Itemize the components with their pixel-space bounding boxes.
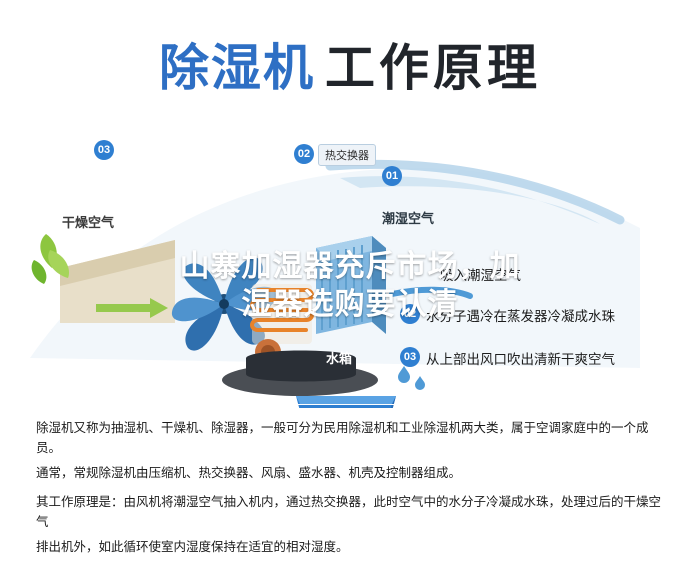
water-droplets — [398, 366, 425, 390]
article-text: 除湿机又称为抽湿机、干燥机、除湿器，一般可分为民用除湿机和工业除湿机两大类，属于… — [36, 418, 666, 562]
section-divider — [0, 404, 700, 405]
article-paragraph-3-body: 由风机将潮湿空气抽入机内，通过热交换器，此时空气中的水分子冷凝成水珠，处理过后的… — [36, 494, 661, 529]
article-paragraph-2: 通常，常规除湿机由压缩机、热交换器、风扇、盛水器、机壳及控制器组成。 — [36, 463, 666, 483]
poster-root: 除湿机工作原理 — [0, 0, 700, 566]
label-heat-exchanger: 热交换器 — [318, 144, 376, 166]
note-badge-02: 02 — [400, 304, 420, 324]
note-text-02: 水分子遇冷在蒸发器冷凝成水珠 — [426, 305, 615, 325]
step-badge-01: 01 — [382, 166, 402, 186]
note-text-03: 从上部出风口吹出清新干爽空气 — [426, 348, 615, 368]
label-dry-air: 干燥空气 — [62, 212, 114, 231]
label-moist-air: 潮湿空气 — [382, 208, 434, 227]
dehumidifier-diagram: 03 干燥空气 02 热交换器 01 潮湿空气 水箱 吸入潮湿空气 02 水分子… — [0, 108, 700, 408]
note-badge-03: 03 — [400, 347, 420, 367]
page-title-rest: 工作原理 — [325, 39, 541, 97]
label-water-tank: 水箱 — [326, 348, 352, 367]
step-badge-03: 03 — [94, 140, 114, 160]
note-inlet: 吸入潮湿空气 — [440, 264, 521, 284]
water-tank — [296, 396, 396, 408]
heat-exchanger — [316, 236, 386, 334]
page-title-highlight: 除湿机 — [159, 39, 315, 97]
article-paragraph-3: 其工作原理是：由风机将潮湿空气抽入机内，通过热交换器，此时空气中的水分子冷凝成水… — [36, 492, 666, 532]
page-title: 除湿机工作原理 — [0, 28, 700, 100]
article-paragraph-4: 排出机外，如此循环使室内湿度保持在适宜的相对湿度。 — [36, 537, 666, 557]
step-badge-02: 02 — [294, 144, 314, 164]
article-paragraph-1: 除湿机又称为抽湿机、干燥机、除湿器，一般可分为民用除湿机和工业除湿机两大类，属于… — [36, 418, 666, 458]
article-paragraph-3-lead: 其工作原理是： — [36, 494, 124, 509]
